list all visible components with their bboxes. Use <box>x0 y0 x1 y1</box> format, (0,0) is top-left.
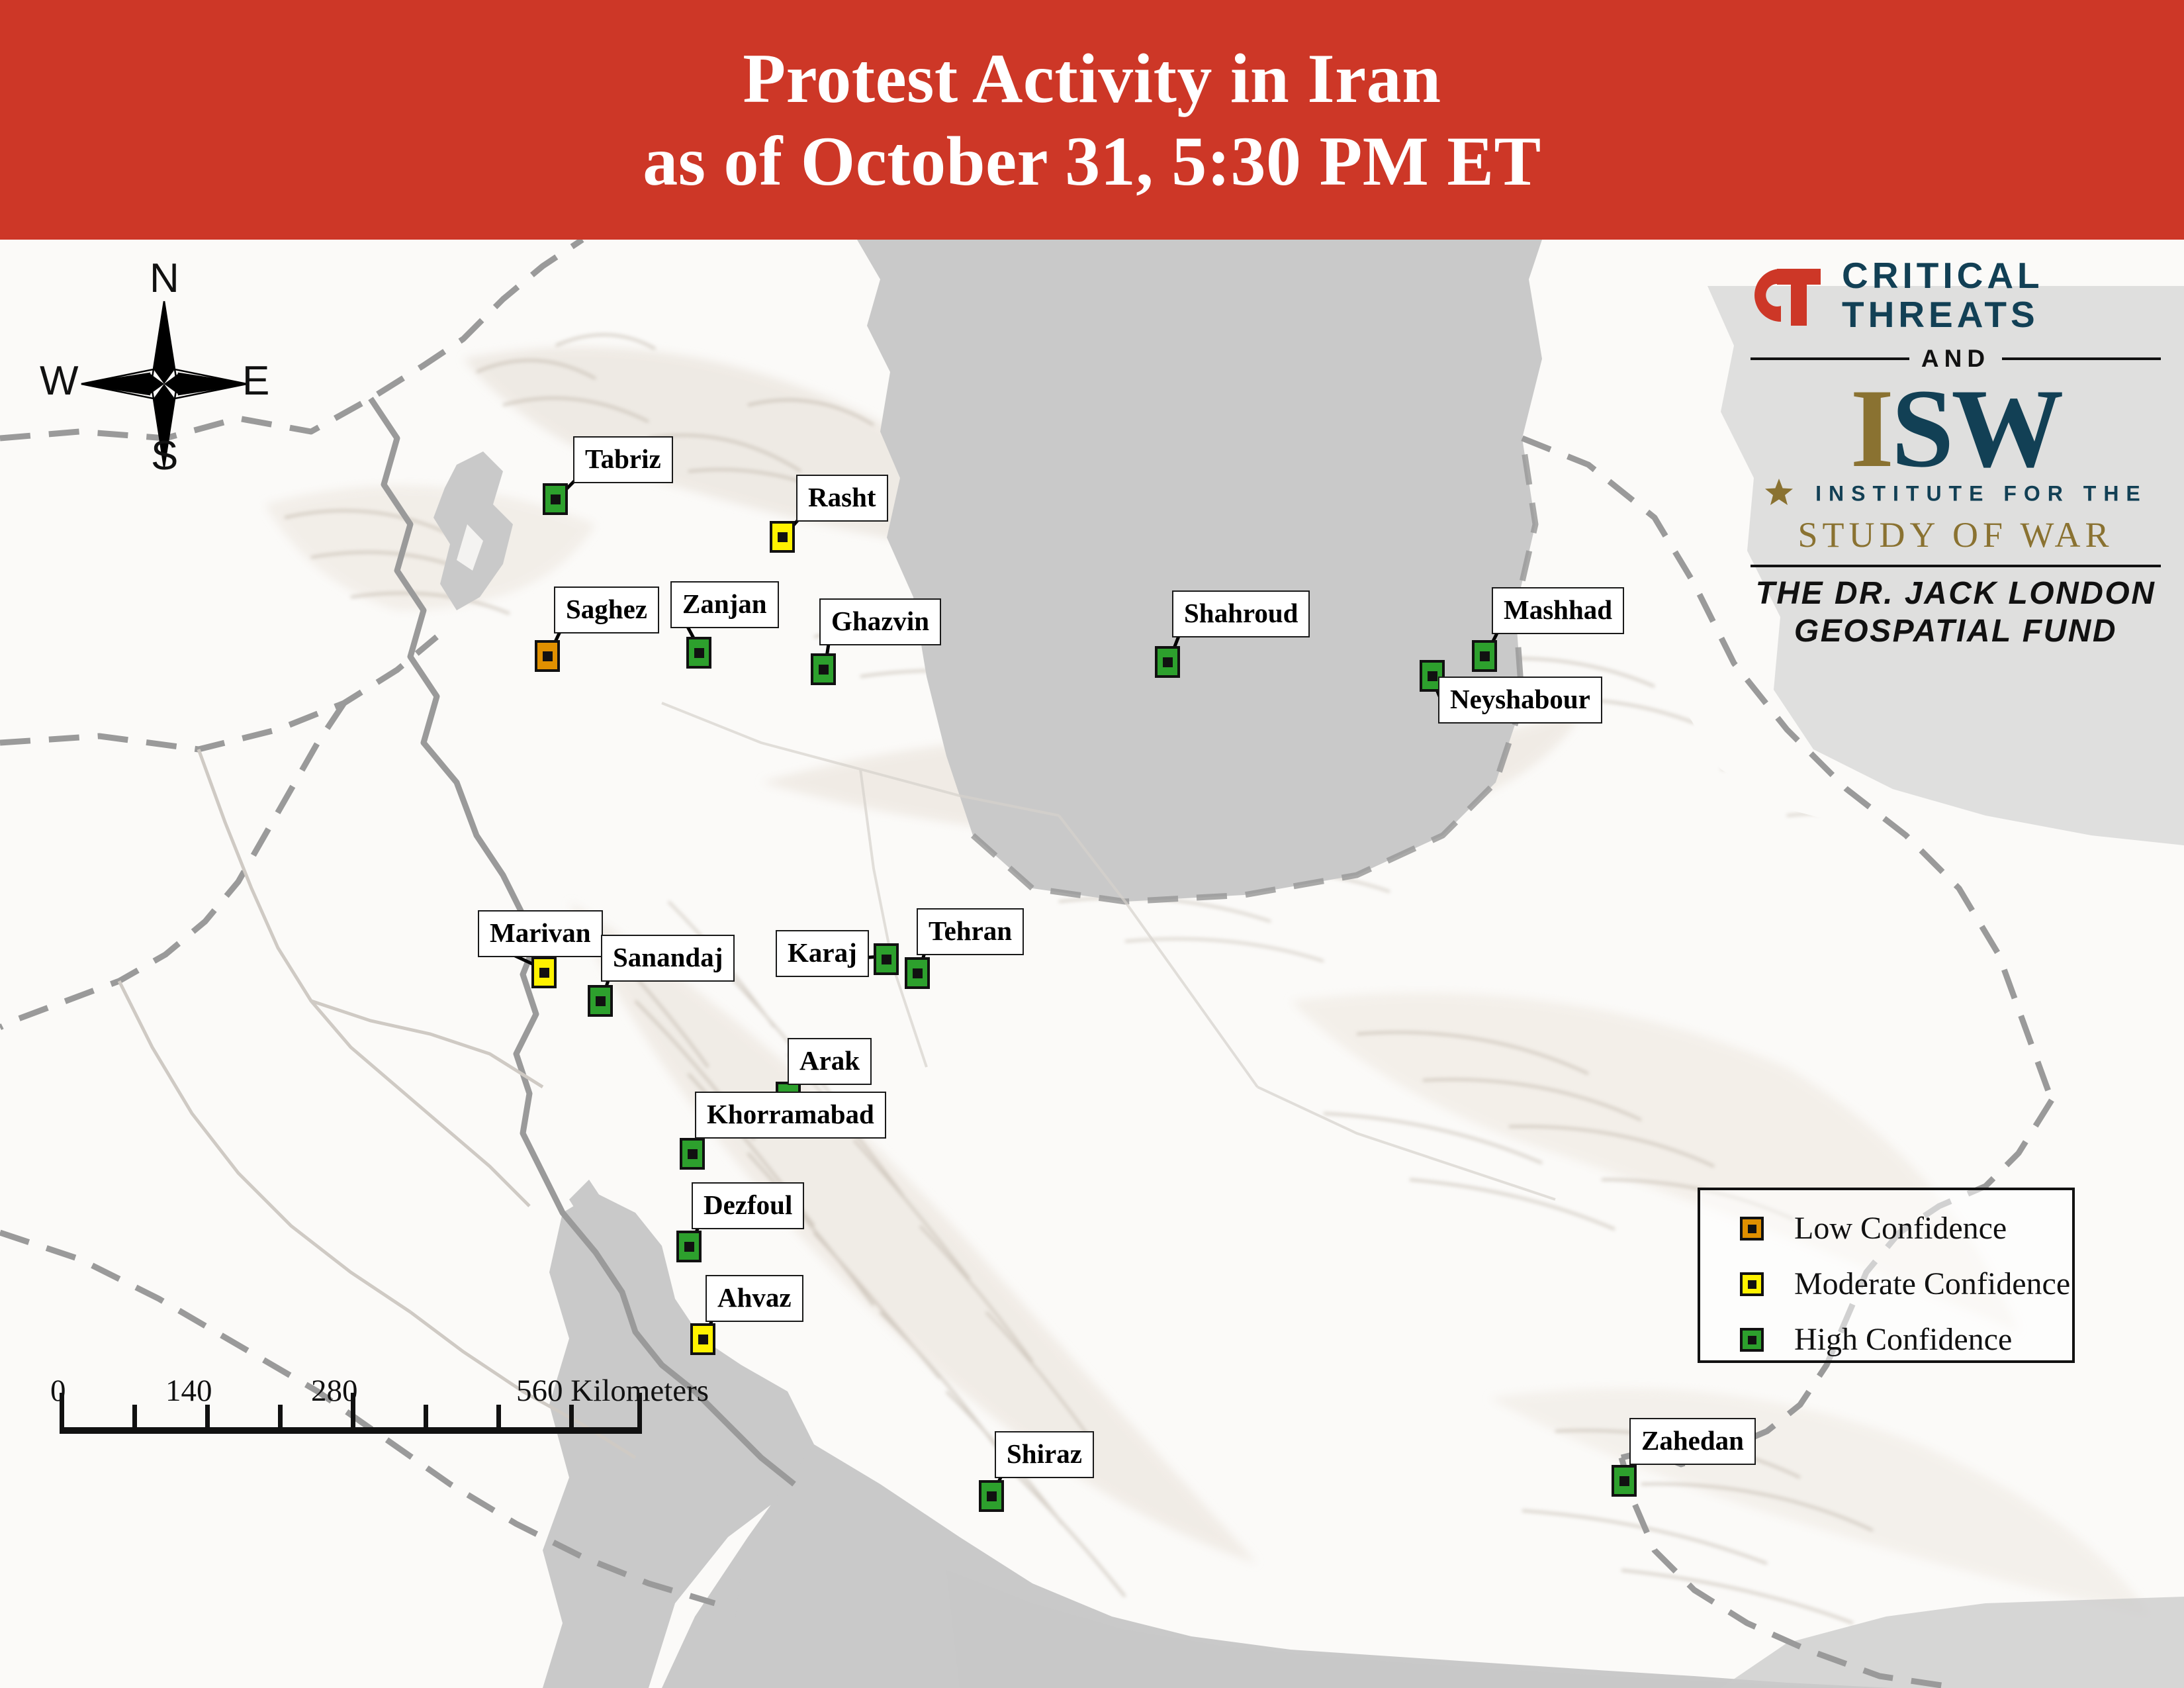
confidence-marker-high[interactable] <box>979 1480 1004 1512</box>
marker-center-dot <box>819 665 829 675</box>
city-label[interactable]: Dezfoul <box>692 1182 804 1229</box>
compass-rose: N S W E <box>78 258 250 477</box>
legend-item-low: Low Confidence <box>1740 1213 2072 1244</box>
confidence-marker-high[interactable] <box>905 957 930 989</box>
confidence-marker-high[interactable] <box>588 985 613 1017</box>
city-label[interactable]: Rasht <box>796 475 888 522</box>
legend-swatch-moderate-icon <box>1740 1272 1764 1296</box>
isw-sub-line1: INSTITUTE FOR THE <box>1815 482 2148 506</box>
legend-label-high: High Confidence <box>1794 1324 2012 1356</box>
legend-item-high: High Confidence <box>1740 1324 2072 1356</box>
city-label[interactable]: Ahvaz <box>705 1275 803 1322</box>
marker-center-dot <box>778 532 788 542</box>
city-label[interactable]: Tehran <box>917 908 1024 955</box>
city-label[interactable]: Karaj <box>776 930 869 977</box>
scale-tick-mark <box>351 1393 355 1434</box>
isw-sub-line2: STUDY OF WAR <box>1751 514 2161 555</box>
confidence-marker-high[interactable] <box>811 653 836 685</box>
title-banner: Protest Activity in Iran as of October 3… <box>0 0 2184 240</box>
scale-tick-140: 140 <box>165 1373 212 1409</box>
confidence-marker-high[interactable] <box>686 637 711 669</box>
confidence-marker-high[interactable] <box>543 483 568 515</box>
marker-center-dot <box>543 651 553 661</box>
city-label[interactable]: Marivan <box>478 910 603 957</box>
confidence-marker-high[interactable] <box>1612 1465 1637 1497</box>
marker-center-dot <box>551 494 561 504</box>
marker-center-dot <box>1428 671 1437 681</box>
marker-center-dot <box>684 1242 694 1252</box>
confidence-marker-high[interactable] <box>1472 640 1497 672</box>
ct-title-line1: CRITICAL <box>1842 256 2044 295</box>
city-label[interactable]: Tabriz <box>573 436 673 483</box>
star-icon <box>1764 477 1794 513</box>
city-label[interactable]: Khorramabad <box>695 1092 886 1139</box>
marker-center-dot <box>596 996 606 1006</box>
page-title-line1: Protest Activity in Iran <box>743 37 1441 120</box>
scale-tick-mark <box>569 1405 574 1434</box>
city-label[interactable]: Ghazvin <box>819 598 941 645</box>
page-title-line2: as of October 31, 5:30 PM ET <box>643 120 1541 203</box>
fund-line1: THE DR. JACK LONDON <box>1751 575 2161 613</box>
fund-line2: GEOSPATIAL FUND <box>1751 613 2161 651</box>
divider-rule-left <box>1751 357 1909 360</box>
city-label[interactable]: Arak <box>788 1038 872 1085</box>
legend-swatch-high-icon <box>1740 1328 1764 1352</box>
marker-center-dot <box>1163 657 1173 667</box>
organization-logos: CRITICAL THREATS AND ISW INSTITUTE FOR T… <box>1751 256 2161 650</box>
divider-rule-right <box>2002 357 2161 360</box>
scale-bar: 0 140 280 560 Kilometers <box>46 1373 688 1452</box>
scale-tick-mark <box>132 1405 137 1434</box>
city-label[interactable]: Sanandaj <box>601 935 735 982</box>
confidence-marker-moderate[interactable] <box>770 521 795 553</box>
scale-tick-mark <box>278 1405 283 1434</box>
marker-center-dot <box>694 648 704 658</box>
marker-center-dot <box>913 968 923 978</box>
confidence-marker-low[interactable] <box>535 640 560 672</box>
legend-label-low: Low Confidence <box>1794 1213 2007 1244</box>
logo-divider-bottom <box>1751 565 2161 567</box>
marker-center-dot <box>987 1491 997 1501</box>
marker-center-dot <box>539 968 549 978</box>
compass-label-east: E <box>242 361 269 402</box>
city-label[interactable]: Mashhad <box>1492 587 1624 634</box>
map-canvas[interactable]: N S W E 0 140 280 560 Kilometers <box>0 240 2184 1688</box>
map-legend: Low Confidence Moderate Confidence High … <box>1698 1188 2075 1363</box>
marker-center-dot <box>882 955 891 964</box>
marker-center-dot <box>698 1335 708 1344</box>
scale-tick-mark <box>637 1393 642 1434</box>
scale-tick-mark <box>496 1405 501 1434</box>
compass-label-west: W <box>40 361 79 402</box>
confidence-marker-moderate[interactable] <box>531 957 557 988</box>
scale-tick-mark <box>424 1405 428 1434</box>
confidence-marker-moderate[interactable] <box>690 1323 715 1355</box>
marker-center-dot <box>1480 651 1490 661</box>
ct-monogram-icon <box>1751 265 1827 326</box>
legend-item-moderate: Moderate Confidence <box>1740 1268 2072 1300</box>
scale-end-label: 560 Kilometers <box>516 1373 709 1409</box>
marker-center-dot <box>688 1149 698 1159</box>
city-label[interactable]: Neyshabour <box>1438 677 1602 724</box>
scale-tick-mark <box>205 1405 210 1434</box>
city-label[interactable]: Saghez <box>554 586 659 633</box>
city-label[interactable]: Shiraz <box>995 1431 1094 1478</box>
legend-label-moderate: Moderate Confidence <box>1794 1268 2070 1300</box>
city-label[interactable]: Zahedan <box>1629 1418 1756 1465</box>
ct-title-line2: THREATS <box>1842 295 2044 334</box>
confidence-marker-high[interactable] <box>680 1138 705 1170</box>
scale-tick-mark <box>60 1393 64 1434</box>
legend-swatch-low-icon <box>1740 1217 1764 1241</box>
isw-wordmark: ISW <box>1751 377 2161 480</box>
compass-label-south: S <box>151 436 178 477</box>
confidence-marker-high[interactable] <box>874 943 899 975</box>
city-label[interactable]: Zanjan <box>670 581 779 628</box>
marker-center-dot <box>1619 1476 1629 1486</box>
confidence-marker-high[interactable] <box>676 1231 702 1262</box>
compass-label-north: N <box>150 258 179 299</box>
confidence-marker-high[interactable] <box>1155 646 1180 678</box>
city-label[interactable]: Shahroud <box>1172 590 1310 637</box>
